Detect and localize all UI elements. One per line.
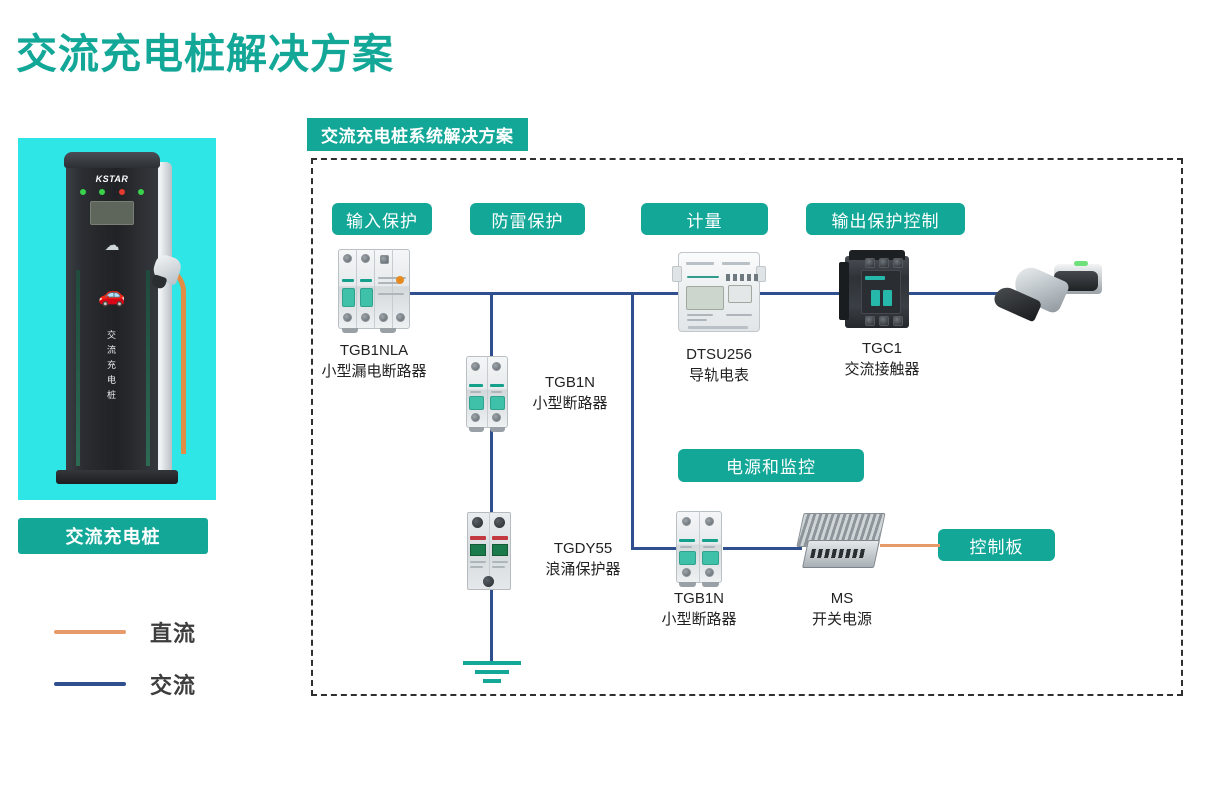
legend-swatch-dc: [54, 630, 126, 634]
wire-ac-mcb-to-psu: [723, 547, 802, 550]
device-model: TGB1NLA: [294, 340, 454, 361]
pile-vertical-text: 交流充电桩: [66, 328, 158, 403]
product-caption: 交流充电桩: [18, 518, 208, 554]
caption-dtsu256: DTSU256 导轨电表: [654, 344, 784, 386]
legend-label-ac: 交流: [150, 668, 196, 700]
device-tgb1n-mcb-bottom: [676, 511, 722, 583]
wire-dc-psu-to-control-board: [880, 544, 940, 547]
pile-display-screen: [90, 201, 134, 225]
pill-input-protection: 输入保护: [332, 203, 432, 235]
rfid-wave-icon: ☁: [66, 238, 158, 253]
page-title: 交流充电桩解决方案: [16, 20, 394, 80]
caption-tgb1n-bottom: TGB1N 小型断路器: [634, 588, 764, 630]
charging-pile-illustration: KSTAR ☁ 🚗 交流充电桩: [54, 152, 180, 490]
device-name: 开关电源: [782, 609, 902, 630]
wire-ac-contactor-to-gun: [908, 292, 998, 295]
pill-lightning-protection: 防雷保护: [470, 203, 585, 235]
caption-ms: MS 开关电源: [782, 588, 902, 630]
caption-tgc1: TGC1 交流接触器: [822, 338, 942, 380]
wire-ac-mcb-to-spd: [490, 428, 493, 512]
device-name: 交流接触器: [822, 359, 942, 380]
device-model: MS: [782, 588, 902, 609]
ev-charging-gun: [992, 258, 1102, 328]
device-model: DTSU256: [654, 344, 784, 365]
legend-label-dc: 直流: [150, 616, 196, 648]
diagram-banner: 交流充电桩系统解决方案: [307, 118, 528, 151]
device-tgc1-contactor: [845, 256, 909, 328]
legend-item-ac: 交流: [54, 658, 196, 710]
device-name: 导轨电表: [654, 365, 784, 386]
caption-tgb1nla: TGB1NLA 小型漏电断路器: [294, 340, 454, 382]
charging-cable: [158, 264, 186, 454]
led-indicator: [99, 189, 105, 195]
led-indicator: [119, 189, 125, 195]
device-model: TGB1N: [500, 372, 640, 393]
wire-ac-branch-to-mcb: [490, 292, 493, 356]
ground-symbol: [463, 661, 521, 688]
led-indicator: [80, 189, 86, 195]
device-name: 小型漏电断路器: [294, 361, 454, 382]
wire-ac-branch-to-psu-chain: [631, 292, 634, 549]
led-indicator: [138, 189, 144, 195]
device-ms-power-supply: [800, 513, 882, 571]
device-tgdy55-spd: [467, 512, 511, 590]
pile-base: [56, 470, 178, 484]
pill-power-and-monitoring: 电源和监控: [678, 449, 864, 482]
device-model: TGC1: [822, 338, 942, 359]
wire-ac-main-bus: [409, 292, 686, 295]
pile-brand-label: KSTAR: [66, 174, 158, 184]
device-name: 小型断路器: [634, 609, 764, 630]
pile-led-row: [80, 189, 144, 195]
device-tgb1nla-rcbo: [338, 249, 410, 329]
device-model: TGB1N: [634, 588, 764, 609]
pill-output-protection-control: 输出保护控制: [806, 203, 965, 235]
legend-swatch-ac: [54, 682, 126, 686]
device-model: TGDY55: [518, 538, 648, 559]
legend-item-dc: 直流: [54, 606, 196, 658]
caption-tgdy55: TGDY55 浪涌保护器: [518, 538, 648, 580]
ev-charging-icon: 🚗: [66, 284, 158, 306]
pile-top-cap: [64, 152, 160, 168]
legend: 直流 交流: [54, 606, 196, 710]
wire-ac-meter-to-contactor: [758, 292, 844, 295]
device-name: 小型断路器: [500, 393, 640, 414]
device-dtsu256-meter: [678, 252, 760, 332]
device-name: 浪涌保护器: [518, 559, 648, 580]
product-photo: KSTAR ☁ 🚗 交流充电桩: [18, 138, 216, 500]
pill-control-board: 控制板: [938, 529, 1055, 561]
page-root: 交流充电桩解决方案 KSTAR ☁ 🚗 交流充电桩 交流充电桩: [0, 0, 1213, 812]
wire-ac-spd-to-ground: [490, 590, 493, 662]
caption-tgb1n-middle: TGB1N 小型断路器: [500, 372, 640, 414]
pill-metering: 计量: [641, 203, 768, 235]
